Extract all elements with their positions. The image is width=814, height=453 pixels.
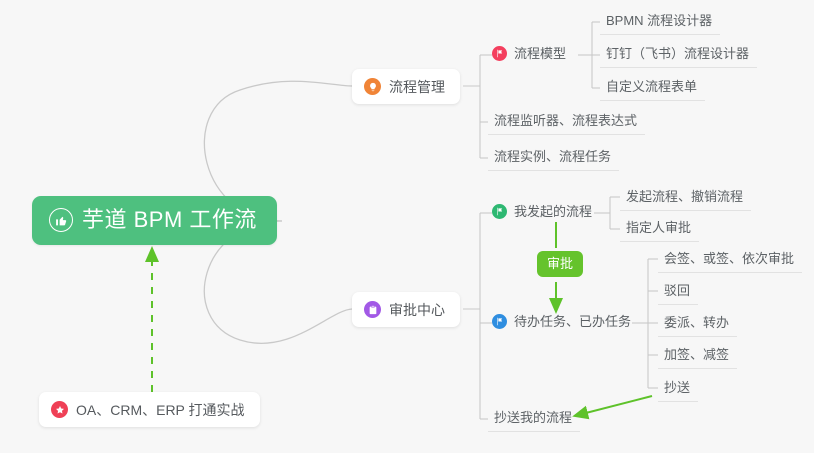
flag-icon bbox=[492, 204, 507, 219]
branch-label: 流程管理 bbox=[389, 80, 445, 94]
leaf-delegate-transfer[interactable]: 委派、转办 bbox=[658, 312, 737, 337]
node-label: 流程模型 bbox=[514, 47, 566, 60]
leaf-custom-form[interactable]: 自定义流程表单 bbox=[600, 76, 705, 101]
flag-icon bbox=[492, 46, 507, 61]
node-label: 我发起的流程 bbox=[514, 205, 592, 218]
leaf-cc[interactable]: 抄送 bbox=[658, 377, 698, 402]
clipboard-icon bbox=[364, 301, 381, 318]
bottom-note-node[interactable]: OA、CRM、ERP 打通实战 bbox=[39, 392, 260, 427]
lightbulb-icon bbox=[364, 78, 381, 95]
star-icon bbox=[51, 401, 68, 418]
branch-process-management[interactable]: 流程管理 bbox=[352, 69, 460, 104]
node-process-model[interactable]: 流程模型 bbox=[492, 46, 566, 65]
branch-label: 审批中心 bbox=[389, 303, 445, 317]
leaf-bpmn-designer[interactable]: BPMN 流程设计器 bbox=[600, 10, 720, 35]
root-label: 芋道 BPM 工作流 bbox=[82, 209, 257, 231]
annotation-approval-tag: 审批 bbox=[537, 251, 583, 277]
leaf-cc-to-me[interactable]: 抄送我的流程 bbox=[488, 407, 580, 432]
thumbs-up-icon bbox=[49, 208, 73, 232]
bottom-note-label: OA、CRM、ERP 打通实战 bbox=[76, 403, 245, 417]
node-label: 待办任务、已办任务 bbox=[514, 315, 631, 328]
leaf-reject[interactable]: 驳回 bbox=[658, 280, 698, 305]
leaf-start-cancel-process[interactable]: 发起流程、撤销流程 bbox=[620, 186, 751, 211]
leaf-add-remove-sign[interactable]: 加签、减签 bbox=[658, 344, 737, 369]
leaf-countersign[interactable]: 会签、或签、依次审批 bbox=[658, 248, 802, 273]
root-node[interactable]: 芋道 BPM 工作流 bbox=[32, 196, 277, 245]
node-todo-done-tasks[interactable]: 待办任务、已办任务 bbox=[492, 314, 631, 333]
flag-icon bbox=[492, 314, 507, 329]
leaf-dingtalk-designer[interactable]: 钉钉（飞书）流程设计器 bbox=[600, 43, 757, 68]
branch-approval-center[interactable]: 审批中心 bbox=[352, 292, 460, 327]
leaf-process-listener[interactable]: 流程监听器、流程表达式 bbox=[488, 110, 645, 135]
mindmap-canvas: 芋道 BPM 工作流 流程管理 流程模型 BPMN 流程设计器 钉钉（飞书）流程… bbox=[0, 0, 814, 453]
node-my-initiated[interactable]: 我发起的流程 bbox=[492, 204, 592, 223]
leaf-process-instance[interactable]: 流程实例、流程任务 bbox=[488, 146, 619, 171]
leaf-assignee-approval[interactable]: 指定人审批 bbox=[620, 217, 699, 242]
